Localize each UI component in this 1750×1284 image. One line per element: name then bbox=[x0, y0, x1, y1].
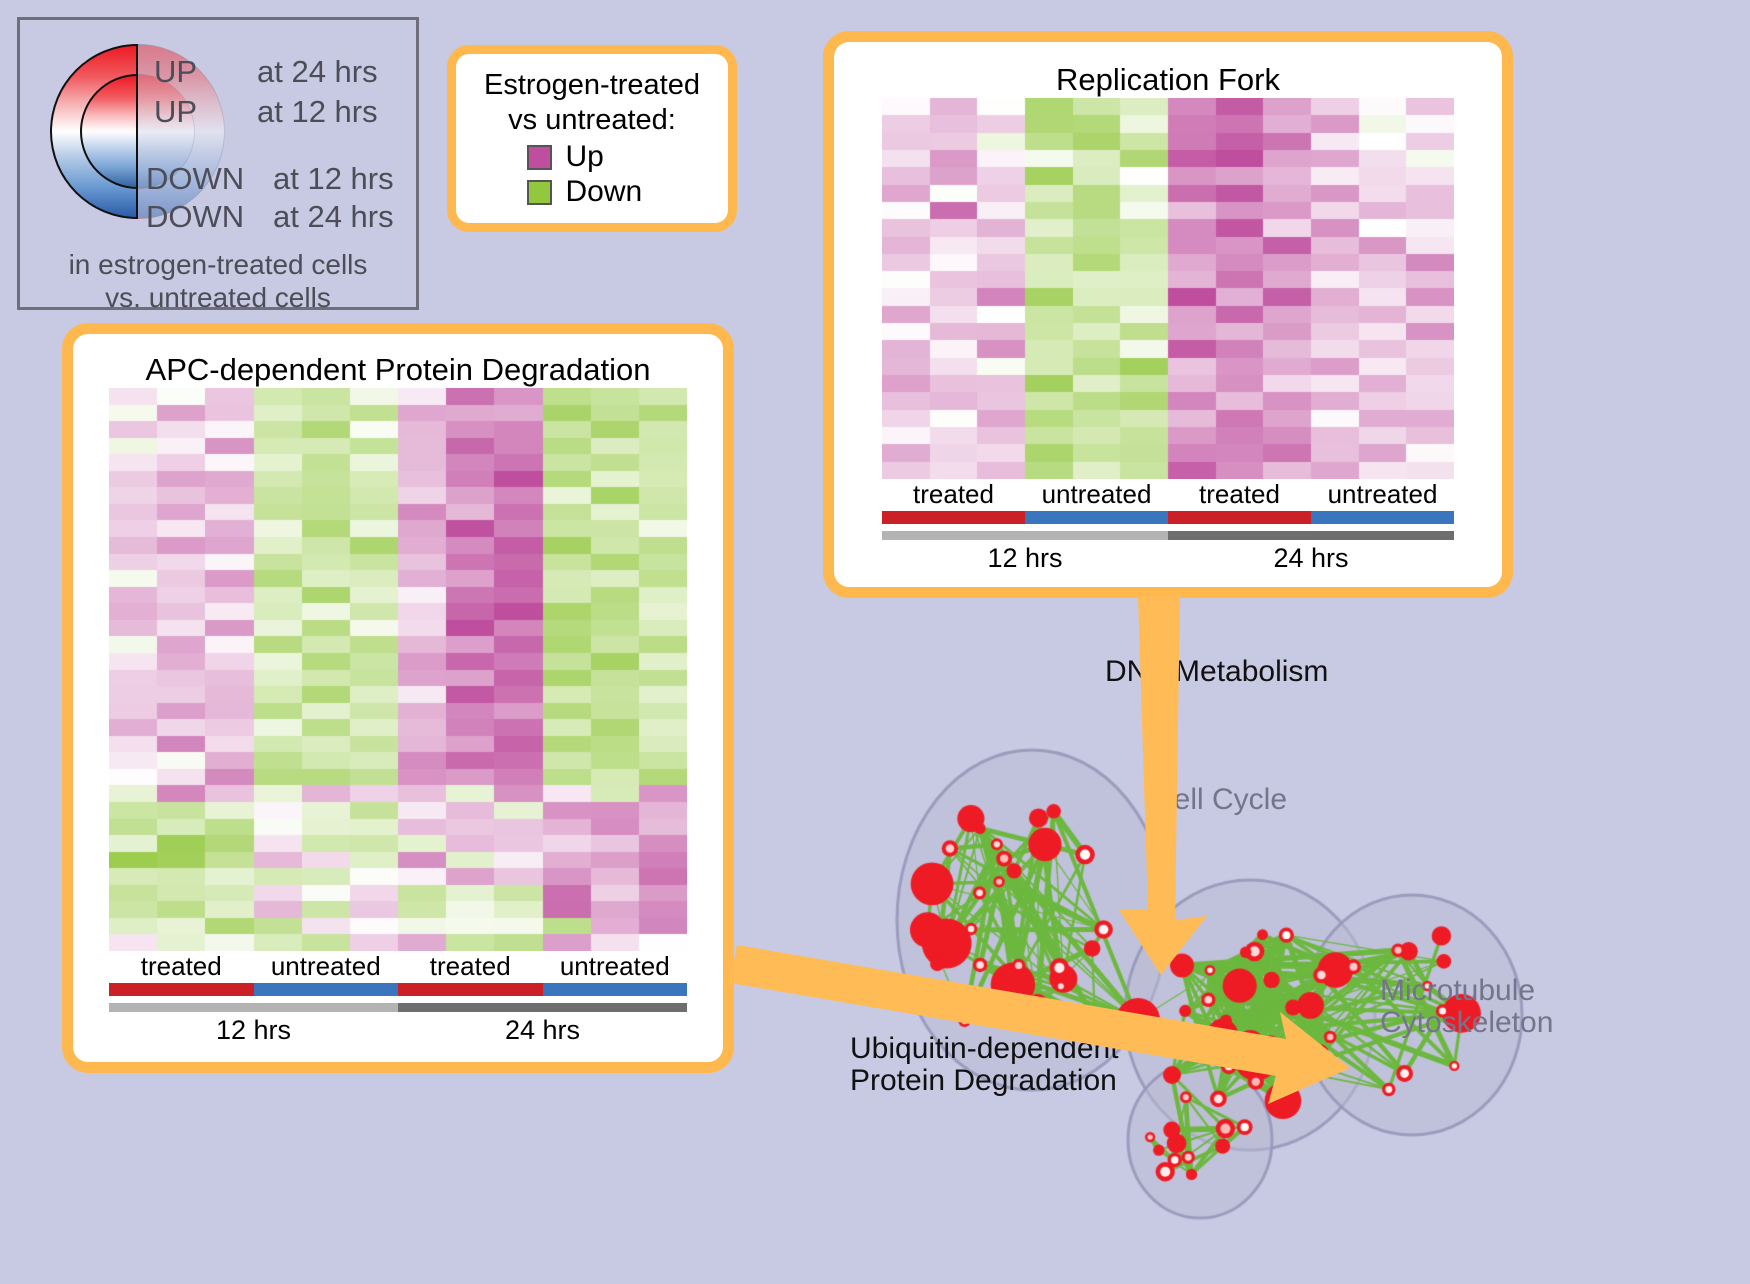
apc-degradation-time-labels: 12 hrs 24 hrs bbox=[109, 1012, 687, 1048]
condition-label: untreated bbox=[1311, 479, 1454, 509]
time-label-24hrs: 24 hrs bbox=[398, 1012, 687, 1048]
condition-label: untreated bbox=[543, 951, 688, 981]
condition-bar-treated-24 bbox=[398, 983, 543, 996]
condition-label: untreated bbox=[1025, 479, 1168, 509]
updown-title-line1: Estrogen-treated bbox=[466, 68, 718, 103]
condition-label: treated bbox=[1168, 479, 1311, 509]
condition-label: treated bbox=[109, 951, 254, 981]
colorwheel-direction-2: DOWN bbox=[146, 163, 244, 194]
time-bar-24hrs bbox=[1168, 531, 1454, 540]
condition-bar-untreated-24 bbox=[1311, 511, 1454, 524]
condition-label: treated bbox=[398, 951, 543, 981]
apc-degradation-axis: treated untreated treated untreated 12 h bbox=[109, 951, 687, 1048]
replication-fork-time-bar bbox=[882, 531, 1454, 540]
colorwheel-caption-line1: in estrogen-treated cells bbox=[20, 248, 416, 281]
figure-canvas: UP at 24 hrs UP at 12 hrs DOWN at 12 hrs… bbox=[0, 0, 1750, 1279]
replication-fork-inner: Replication Fork treated untreated treat… bbox=[834, 42, 1502, 587]
time-bar-12hrs bbox=[109, 1003, 398, 1012]
time-label-12hrs: 12 hrs bbox=[882, 540, 1168, 576]
time-bar-12hrs bbox=[882, 531, 1168, 540]
colorwheel-legend-box: UP at 24 hrs UP at 12 hrs DOWN at 12 hrs… bbox=[17, 17, 419, 310]
colorwheel-time-2: at 12 hrs bbox=[273, 163, 394, 194]
replication-fork-time-labels: 12 hrs 24 hrs bbox=[882, 540, 1454, 576]
cluster-label-dna-metabolism: DNA Metabolism bbox=[1105, 656, 1328, 688]
apc-degradation-time-bar bbox=[109, 1003, 687, 1012]
updown-title-line2: vs untreated: bbox=[466, 103, 718, 138]
apc-degradation-condition-bar bbox=[109, 983, 687, 996]
time-label-12hrs: 12 hrs bbox=[109, 1012, 398, 1048]
network-canvas bbox=[800, 620, 1750, 1279]
colorwheel-time-1: at 12 hrs bbox=[257, 96, 378, 127]
colorwheel-time-3: at 24 hrs bbox=[273, 201, 394, 232]
apc-degradation-title: APC-dependent Protein Degradation bbox=[146, 352, 651, 388]
colorwheel-caption: in estrogen-treated cells vs. untreated … bbox=[20, 248, 416, 314]
time-label-24hrs: 24 hrs bbox=[1168, 540, 1454, 576]
condition-label: untreated bbox=[254, 951, 399, 981]
colorwheel-midline bbox=[136, 44, 138, 219]
replication-fork-condition-bar bbox=[882, 511, 1454, 524]
apc-degradation-condition-labels: treated untreated treated untreated bbox=[109, 951, 687, 981]
replication-fork-title: Replication Fork bbox=[1056, 62, 1280, 98]
updown-legend-title: Estrogen-treated vs untreated: bbox=[466, 68, 718, 138]
replication-fork-heatmap bbox=[882, 98, 1454, 479]
condition-bar-treated-12 bbox=[882, 511, 1025, 524]
condition-bar-untreated-24 bbox=[543, 983, 688, 996]
pathway-network-diagram: DNA Metabolism Cell Cycle Microtubule Cy… bbox=[800, 620, 1750, 1279]
condition-bar-treated-12 bbox=[109, 983, 254, 996]
cluster-label-cell-cycle: Cell Cycle bbox=[1152, 784, 1287, 816]
apc-degradation-panel: APC-dependent Protein Degradation treate… bbox=[62, 323, 734, 1073]
legend-label-down: Down bbox=[566, 176, 658, 208]
cluster-label-ubiquitin-protein-degradation: Ubiquitin-dependent Protein Degradation bbox=[850, 1033, 1119, 1098]
legend-item-down: Down bbox=[466, 176, 718, 208]
updown-legend-panel: Estrogen-treated vs untreated: Up Down bbox=[447, 45, 737, 232]
cluster-label-microtubule-cytoskeleton: Microtubule Cytoskeleton bbox=[1380, 975, 1553, 1040]
colorwheel-caption-line2: vs. untreated cells bbox=[20, 281, 416, 314]
colorwheel-direction-3: DOWN bbox=[146, 201, 244, 232]
time-bar-24hrs bbox=[398, 1003, 687, 1012]
apc-degradation-inner: APC-dependent Protein Degradation treate… bbox=[73, 334, 723, 1062]
replication-fork-panel: Replication Fork treated untreated treat… bbox=[823, 31, 1513, 598]
updown-legend-inner: Estrogen-treated vs untreated: Up Down bbox=[456, 54, 728, 223]
legend-swatch-down-icon bbox=[527, 180, 552, 205]
legend-swatch-up-icon bbox=[527, 145, 552, 170]
condition-bar-untreated-12 bbox=[254, 983, 399, 996]
colorwheel-time-0: at 24 hrs bbox=[257, 56, 378, 87]
apc-degradation-heatmap bbox=[109, 388, 687, 951]
condition-bar-treated-24 bbox=[1168, 511, 1311, 524]
colorwheel-direction-1: UP bbox=[154, 96, 197, 127]
replication-fork-axis: treated untreated treated untreated 12 h bbox=[882, 479, 1454, 576]
legend-item-up: Up bbox=[466, 141, 718, 173]
condition-bar-untreated-12 bbox=[1025, 511, 1168, 524]
replication-fork-condition-labels: treated untreated treated untreated bbox=[882, 479, 1454, 509]
condition-label: treated bbox=[882, 479, 1025, 509]
legend-label-up: Up bbox=[566, 141, 658, 173]
colorwheel-direction-0: UP bbox=[154, 56, 197, 87]
